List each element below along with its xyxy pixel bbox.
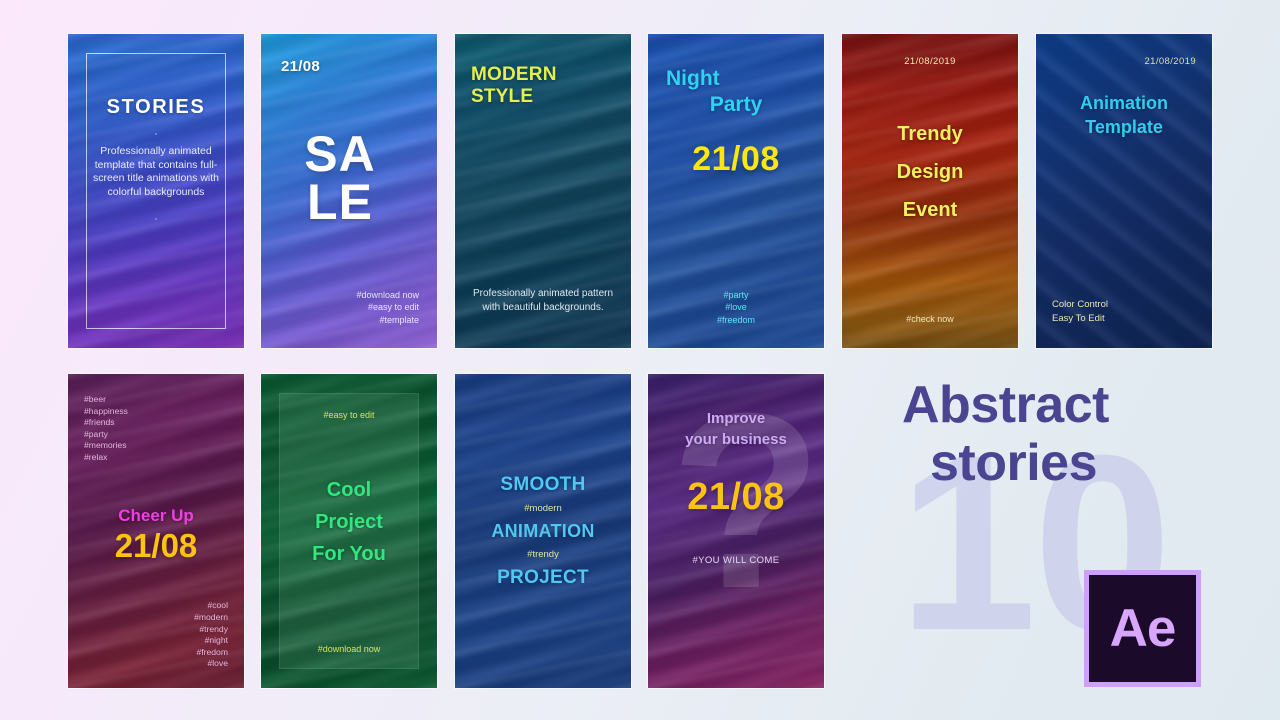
card-title: Cool Project For You	[277, 474, 421, 570]
card-title-line-2: Design	[856, 153, 1004, 191]
divider-dot-bottom: ·	[154, 213, 158, 225]
grid-row-1: STORIES · Professionally animated templa…	[68, 34, 828, 348]
card-title: Animation Template	[1052, 91, 1196, 139]
hashtag-bottom: #download now	[261, 644, 437, 654]
after-effects-logo-label: Ae	[1110, 602, 1176, 655]
card-hashtag-list: #party #love #freedom	[648, 289, 824, 327]
hashtag: #check now	[842, 314, 1018, 324]
footer-line-2: Easy To Edit	[1052, 312, 1108, 326]
card-date: 21/08/2019	[856, 56, 1004, 67]
card-title-line-2: your business	[660, 429, 812, 450]
hashtag: #YOU WILL COME	[660, 555, 812, 566]
story-card-cool-project[interactable]: #easy to edit Cool Project For You #down…	[261, 374, 437, 688]
card-title-line-1: Improve	[660, 408, 812, 429]
card-title-line-1: MODERN	[471, 64, 615, 86]
story-card-animation-template[interactable]: 21/08/2019 Animation Template Color Cont…	[1036, 34, 1212, 348]
card-title-line-1: SMOOTH	[500, 474, 585, 496]
card-title-line-1: Animation	[1052, 91, 1196, 115]
card-date: 21/08	[281, 58, 417, 75]
hashtag: #relax	[84, 452, 228, 464]
card-title-line-1: Night	[666, 66, 806, 92]
headline-line-1: SA	[261, 130, 419, 178]
story-card-improve-your-business[interactable]: ? Improve your business 21/08 #YOU WILL …	[648, 374, 824, 688]
hashtag: #easy to edit	[356, 301, 419, 314]
hashtag: #friends	[84, 417, 228, 429]
card-hashtag-list-bottom: #cool #modern #trendy #night #fredom #lo…	[194, 600, 228, 670]
hashtag: #party	[648, 289, 824, 302]
divider-dot: ·	[154, 127, 158, 141]
grid-row-2: #beer #happiness #friends #party #memori…	[68, 374, 828, 688]
hashtag: #beer	[84, 394, 228, 406]
hashtag: #happiness	[84, 406, 228, 418]
story-card-smooth-animation-project[interactable]: SMOOTH #modern ANIMATION #trendy PROJECT	[455, 374, 631, 688]
hashtag: #freedom	[648, 314, 824, 327]
hashtag-top: #easy to edit	[277, 410, 421, 420]
card-body-text: Professionally animated pattern with bea…	[471, 287, 615, 314]
card-title-line-2: STYLE	[471, 86, 615, 108]
story-card-modern-style[interactable]: MODERN STYLE Professionally animated pat…	[455, 34, 631, 348]
brand-title-line-1: Abstract	[902, 376, 1232, 434]
story-template-grid: STORIES · Professionally animated templa…	[68, 34, 828, 688]
hashtag: #love	[194, 658, 228, 670]
brand-title-line-2: stories	[930, 434, 1232, 492]
hashtag-1: #modern	[524, 503, 562, 514]
card-footer-notes: Color Control Easy To Edit	[1052, 298, 1108, 326]
card-hashtag-list-top: #beer #happiness #friends #party #memori…	[84, 394, 228, 464]
card-title-line-1: Cool	[277, 474, 421, 506]
hashtag: #fredom	[194, 647, 228, 659]
card-title-line-2: ANIMATION	[491, 521, 594, 542]
card-date: 21/08	[666, 140, 806, 179]
hashtag: #party	[84, 429, 228, 441]
hashtag: #download now	[356, 289, 419, 302]
card-headline: SA LE	[261, 130, 419, 226]
hashtag: #cool	[194, 600, 228, 612]
card-title: Cheer Up	[84, 506, 228, 526]
hashtag: #night	[194, 635, 228, 647]
footer-line-1: Color Control	[1052, 298, 1108, 312]
card-title-line-3: PROJECT	[497, 567, 589, 589]
story-card-cheer-up[interactable]: #beer #happiness #friends #party #memori…	[68, 374, 244, 688]
story-card-night-party[interactable]: Night Party 21/08 #party #love #freedom	[648, 34, 824, 348]
story-card-sale[interactable]: 21/08 SA LE #download now #easy to edit …	[261, 34, 437, 348]
card-hashtag-list: #download now #easy to edit #template	[356, 289, 419, 327]
card-title: STORIES	[107, 96, 206, 119]
hashtag: #modern	[194, 612, 228, 624]
hashtag-2: #trendy	[527, 549, 559, 560]
hashtag: #love	[648, 301, 824, 314]
brand-title: Abstract stories	[902, 376, 1232, 492]
card-title-line-2: Project	[277, 506, 421, 538]
card-title-line-3: Event	[856, 191, 1004, 229]
card-title-line-2: Party	[666, 92, 806, 118]
card-date: 21/08	[84, 526, 228, 566]
card-date: 21/08/2019	[1052, 56, 1196, 67]
story-card-trendy-design-event[interactable]: 21/08/2019 Trendy Design Event #check no…	[842, 34, 1018, 348]
card-title-line-1: Trendy	[856, 115, 1004, 153]
after-effects-logo: Ae	[1084, 570, 1201, 687]
card-body-text: Professionally animated template that co…	[90, 145, 222, 199]
card-date: 21/08	[660, 476, 812, 519]
card-title-line-2: Template	[1052, 115, 1196, 139]
story-card-stories[interactable]: STORIES · Professionally animated templa…	[68, 34, 244, 348]
hashtag: #trendy	[194, 624, 228, 636]
hashtag: #template	[356, 314, 419, 327]
card-title: Trendy Design Event	[856, 115, 1004, 229]
headline-line-2: LE	[261, 178, 419, 226]
card-title-line-3: For You	[277, 538, 421, 570]
hashtag: #memories	[84, 440, 228, 452]
